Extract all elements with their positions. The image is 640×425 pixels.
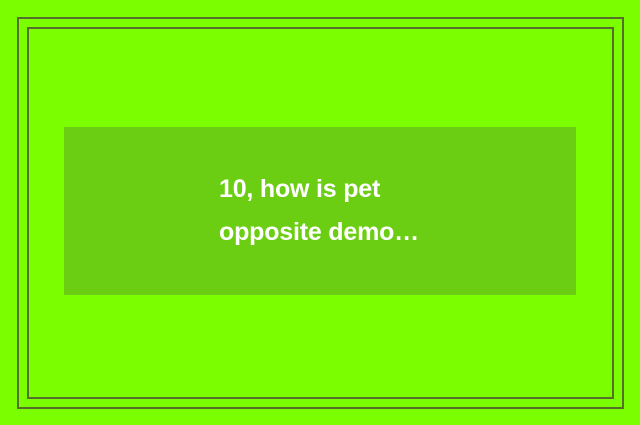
- caption-line-2: opposite demo…: [219, 211, 576, 254]
- caption-line-1: 10, how is pet: [219, 168, 576, 211]
- slide-canvas: 10, how is pet opposite demo…: [0, 0, 640, 425]
- caption-panel: 10, how is pet opposite demo…: [64, 127, 576, 295]
